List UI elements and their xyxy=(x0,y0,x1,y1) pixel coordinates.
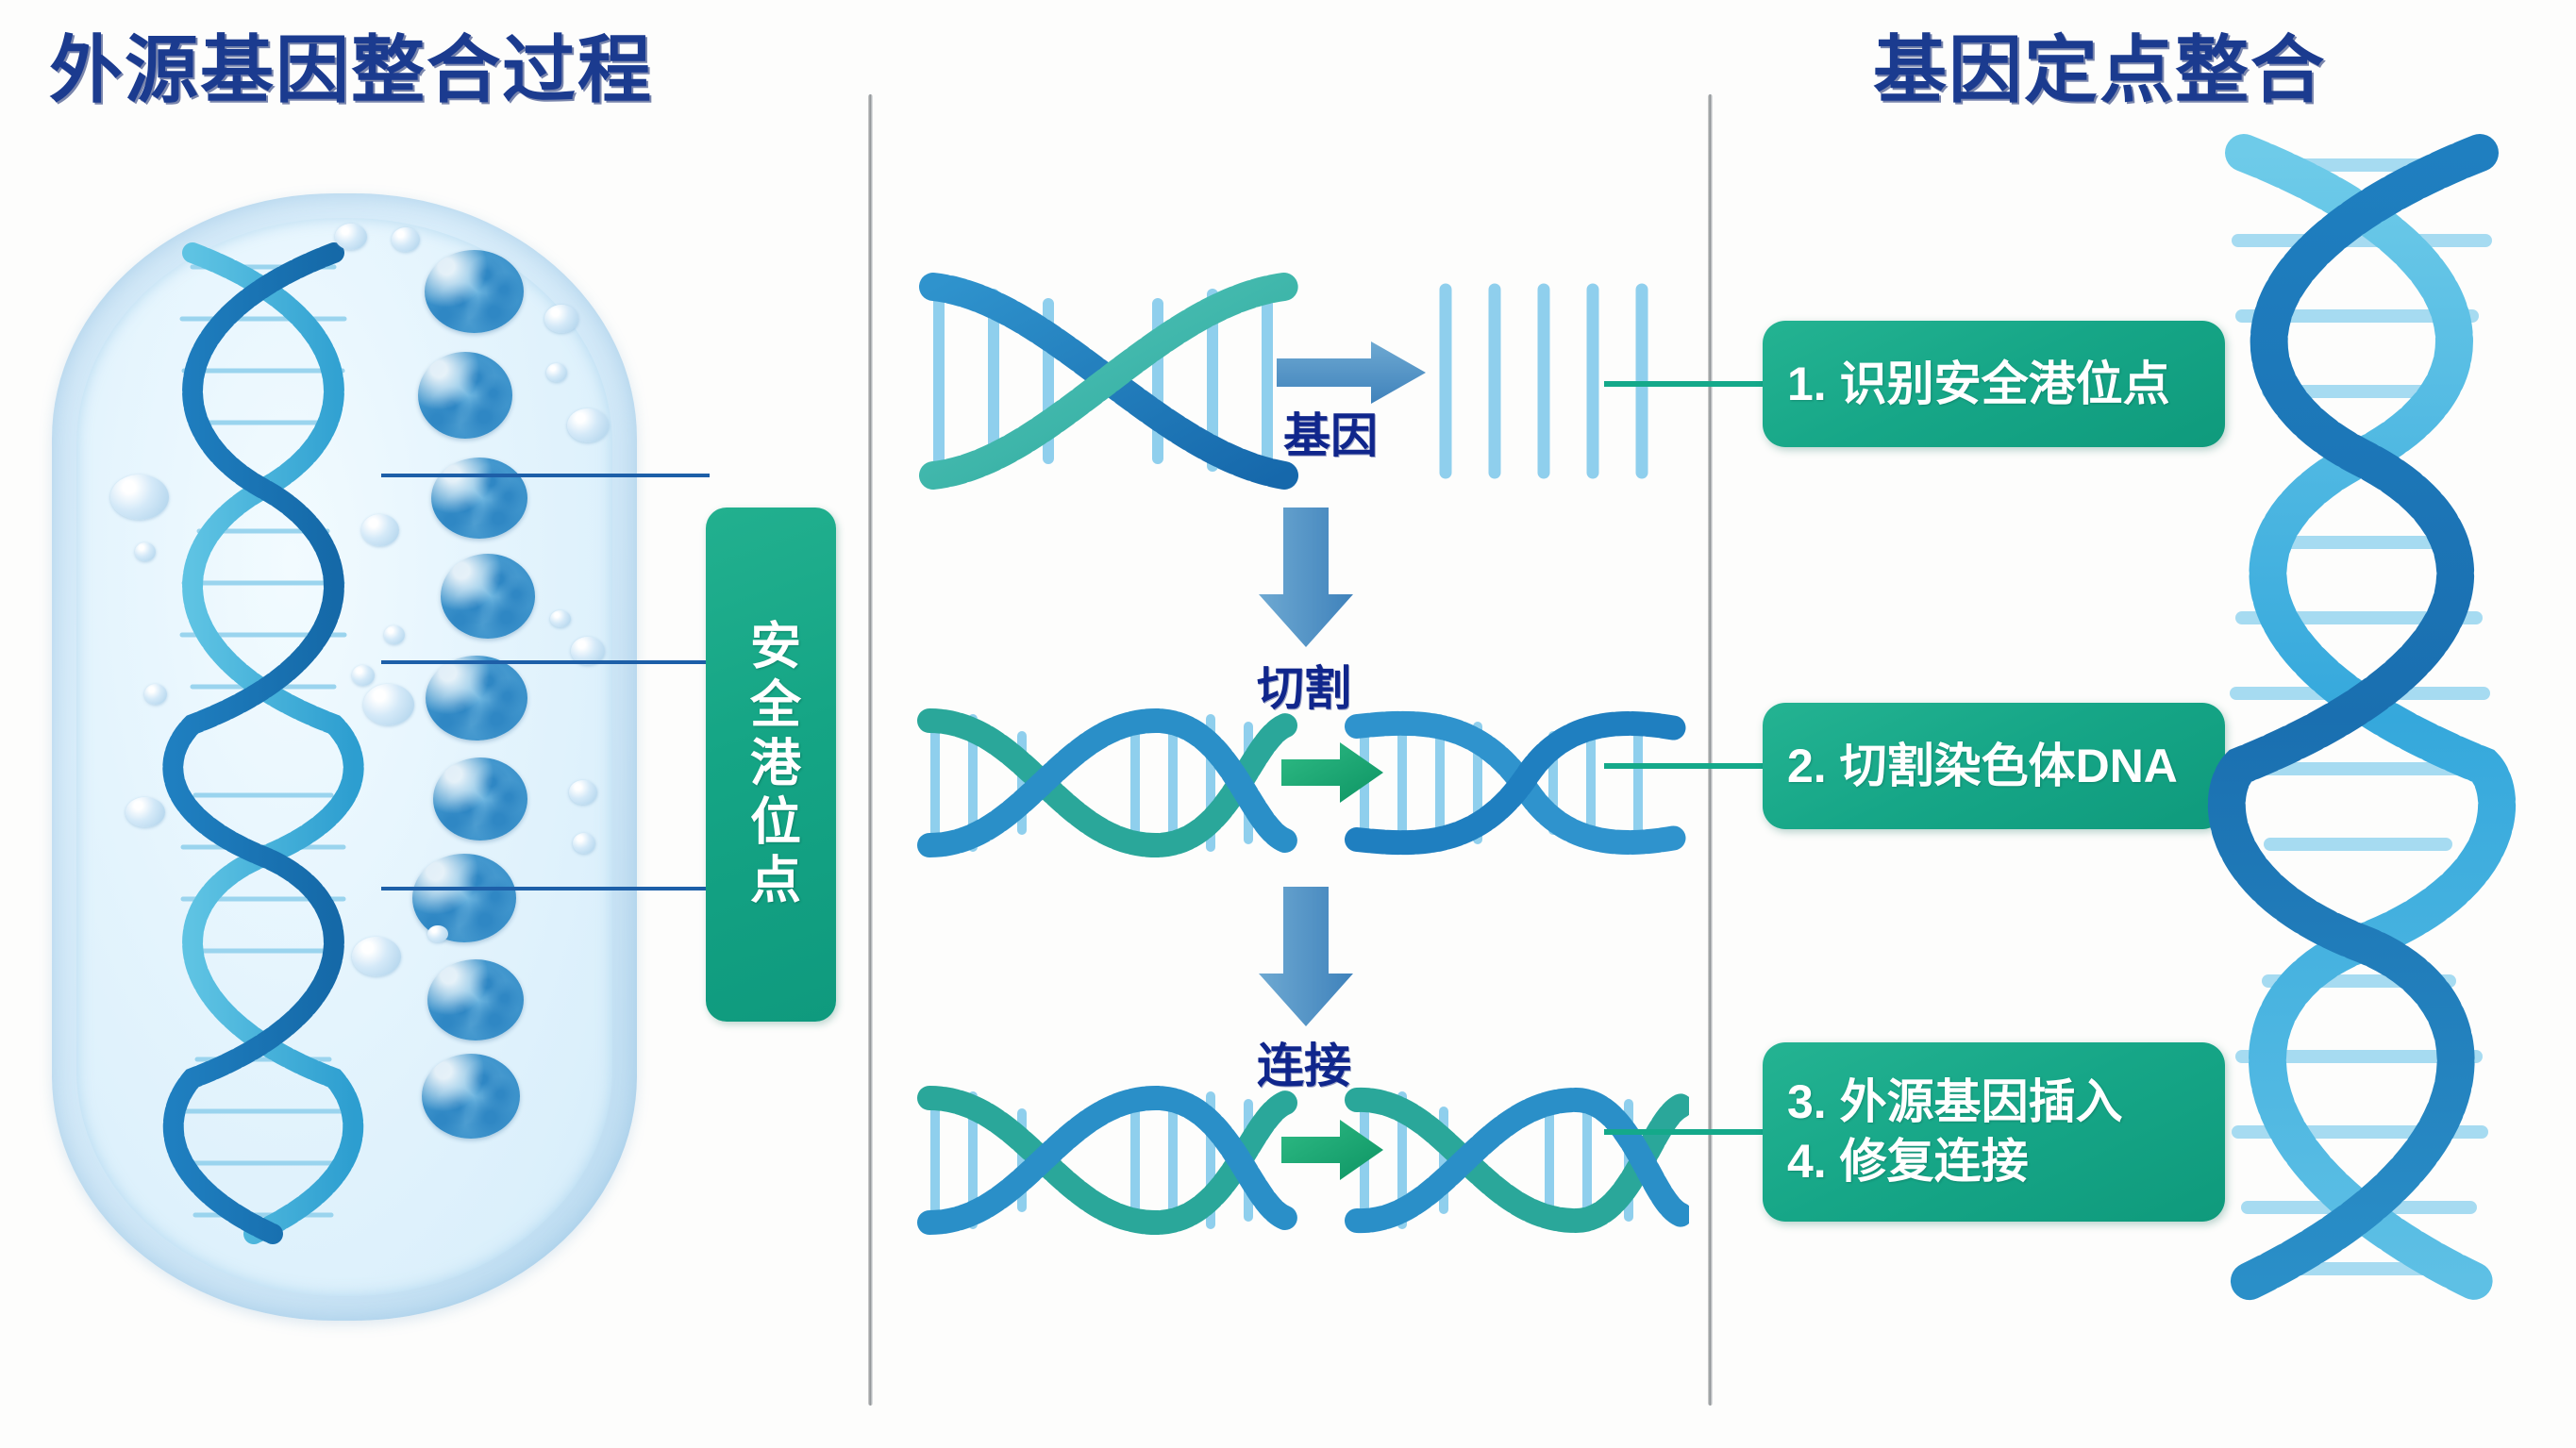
vesicle xyxy=(384,625,405,644)
step-connector-line xyxy=(1604,1129,1766,1135)
ribosome xyxy=(427,959,524,1040)
step-2-badge[interactable]: 2. 切割染色体DNA xyxy=(1763,703,2225,829)
ribosome xyxy=(426,656,527,741)
down-arrow-blue-icon xyxy=(1257,508,1355,649)
dna-helix-teal-blue-icon xyxy=(911,698,1307,868)
vesicle xyxy=(110,474,169,520)
vesicle xyxy=(427,925,448,942)
vesicle xyxy=(144,684,167,705)
vesicle xyxy=(125,797,165,827)
vertical-divider-right xyxy=(1708,94,1713,1406)
ribosome xyxy=(431,458,527,539)
vesicle xyxy=(335,224,367,250)
dna-helix-integrated-icon xyxy=(1340,1075,1689,1245)
vesicle xyxy=(573,833,595,854)
step-1-label: 1. 识别安全港位点 xyxy=(1787,355,2200,414)
safe-harbor-callout[interactable]: 安全港位点 xyxy=(706,508,836,1022)
ribosome xyxy=(422,1054,520,1139)
vesicle xyxy=(544,305,578,333)
step-1-badge[interactable]: 1. 识别安全港位点 xyxy=(1763,321,2225,447)
step-4-label: 4. 修复连接 xyxy=(1787,1132,2200,1191)
step-connector-line xyxy=(1604,763,1766,769)
bacterial-cell-illustration xyxy=(52,193,637,1321)
page-title-left: 外源基因整合过程 xyxy=(49,11,653,117)
vesicle xyxy=(569,780,597,805)
vesicle xyxy=(567,408,609,442)
dna-helix-blue-icon xyxy=(1340,698,1689,868)
right-arrow-green-icon xyxy=(1281,1116,1385,1184)
down-arrow-blue-icon xyxy=(1257,887,1355,1028)
right-arrow-blue-icon xyxy=(1277,340,1428,406)
ribosome xyxy=(433,757,527,841)
leader-line xyxy=(381,660,710,664)
vertical-divider-left xyxy=(868,94,873,1406)
page-title-right: 基因定点整合 xyxy=(1873,11,2326,117)
step-3-label: 3. 外源基因插入 xyxy=(1787,1073,2200,1132)
vesicle xyxy=(392,227,420,252)
vesicle xyxy=(361,514,399,546)
arrow-label-gene: 基因 xyxy=(1283,398,1378,466)
chromosome-double-helix-icon xyxy=(2189,132,2538,1340)
dna-crossed-helix-icon xyxy=(911,245,1307,519)
step-2-label: 2. 切割染色体DNA xyxy=(1787,737,2200,796)
step-3-4-badge[interactable]: 3. 外源基因插入 4. 修复连接 xyxy=(1763,1042,2225,1222)
dna-helix-teal-blue-icon xyxy=(911,1075,1307,1245)
ribosome xyxy=(418,352,512,439)
right-arrow-green-icon xyxy=(1281,739,1385,807)
ribosome xyxy=(425,250,524,333)
step-connector-line xyxy=(1604,381,1766,387)
safe-harbor-label: 安全港位点 xyxy=(734,619,809,911)
cell-dna-helix-icon xyxy=(141,229,386,1276)
vesicle xyxy=(363,684,414,725)
vesicle xyxy=(135,542,156,561)
ribosome xyxy=(441,554,535,639)
leader-line xyxy=(381,887,710,890)
vesicle xyxy=(352,937,401,976)
vesicle xyxy=(550,610,571,627)
leader-line xyxy=(381,474,710,477)
vesicle xyxy=(546,363,567,382)
vesicle xyxy=(352,665,375,686)
